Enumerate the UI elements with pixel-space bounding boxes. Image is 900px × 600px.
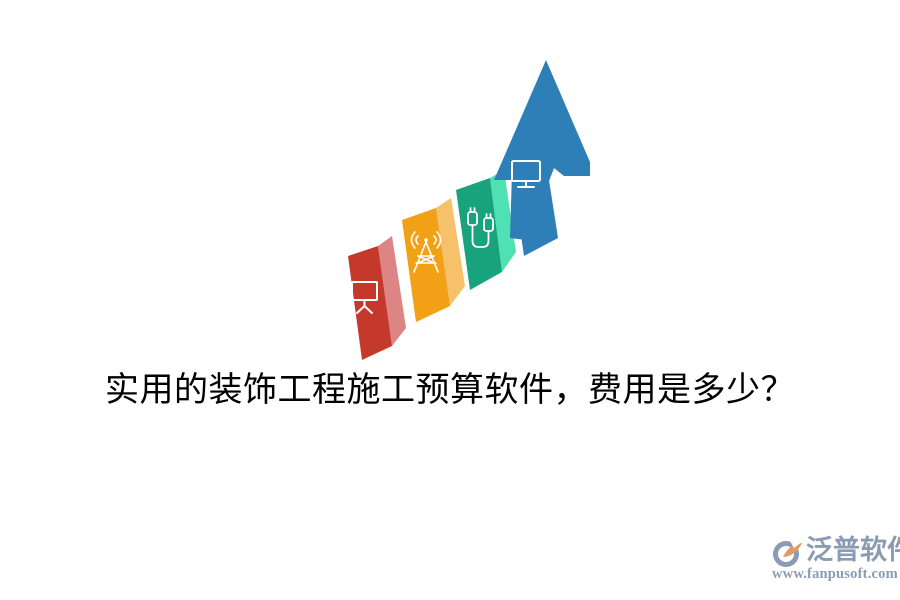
- arrow-segment-orange: [402, 198, 465, 322]
- arrow-segment-teal: [456, 170, 516, 290]
- rising-arrow-infographic: [330, 50, 590, 360]
- arrow-head-blue: [494, 60, 590, 180]
- brand-url-label: www.fanpusoft.com: [772, 566, 898, 583]
- arrow-segment-red: [348, 236, 406, 360]
- brand-name-label: 泛普软件: [806, 535, 900, 566]
- brand-logo[interactable]: 泛普软件 www.fanpusoft.com: [770, 535, 895, 587]
- page-headline: 实用的装饰工程施工预算软件，费用是多少？: [0, 368, 900, 414]
- fanpu-logo-mark-icon: [770, 539, 804, 569]
- page-canvas: 实用的装饰工程施工预算软件，费用是多少？ 泛普软件 www.fanpusoft.…: [0, 0, 900, 600]
